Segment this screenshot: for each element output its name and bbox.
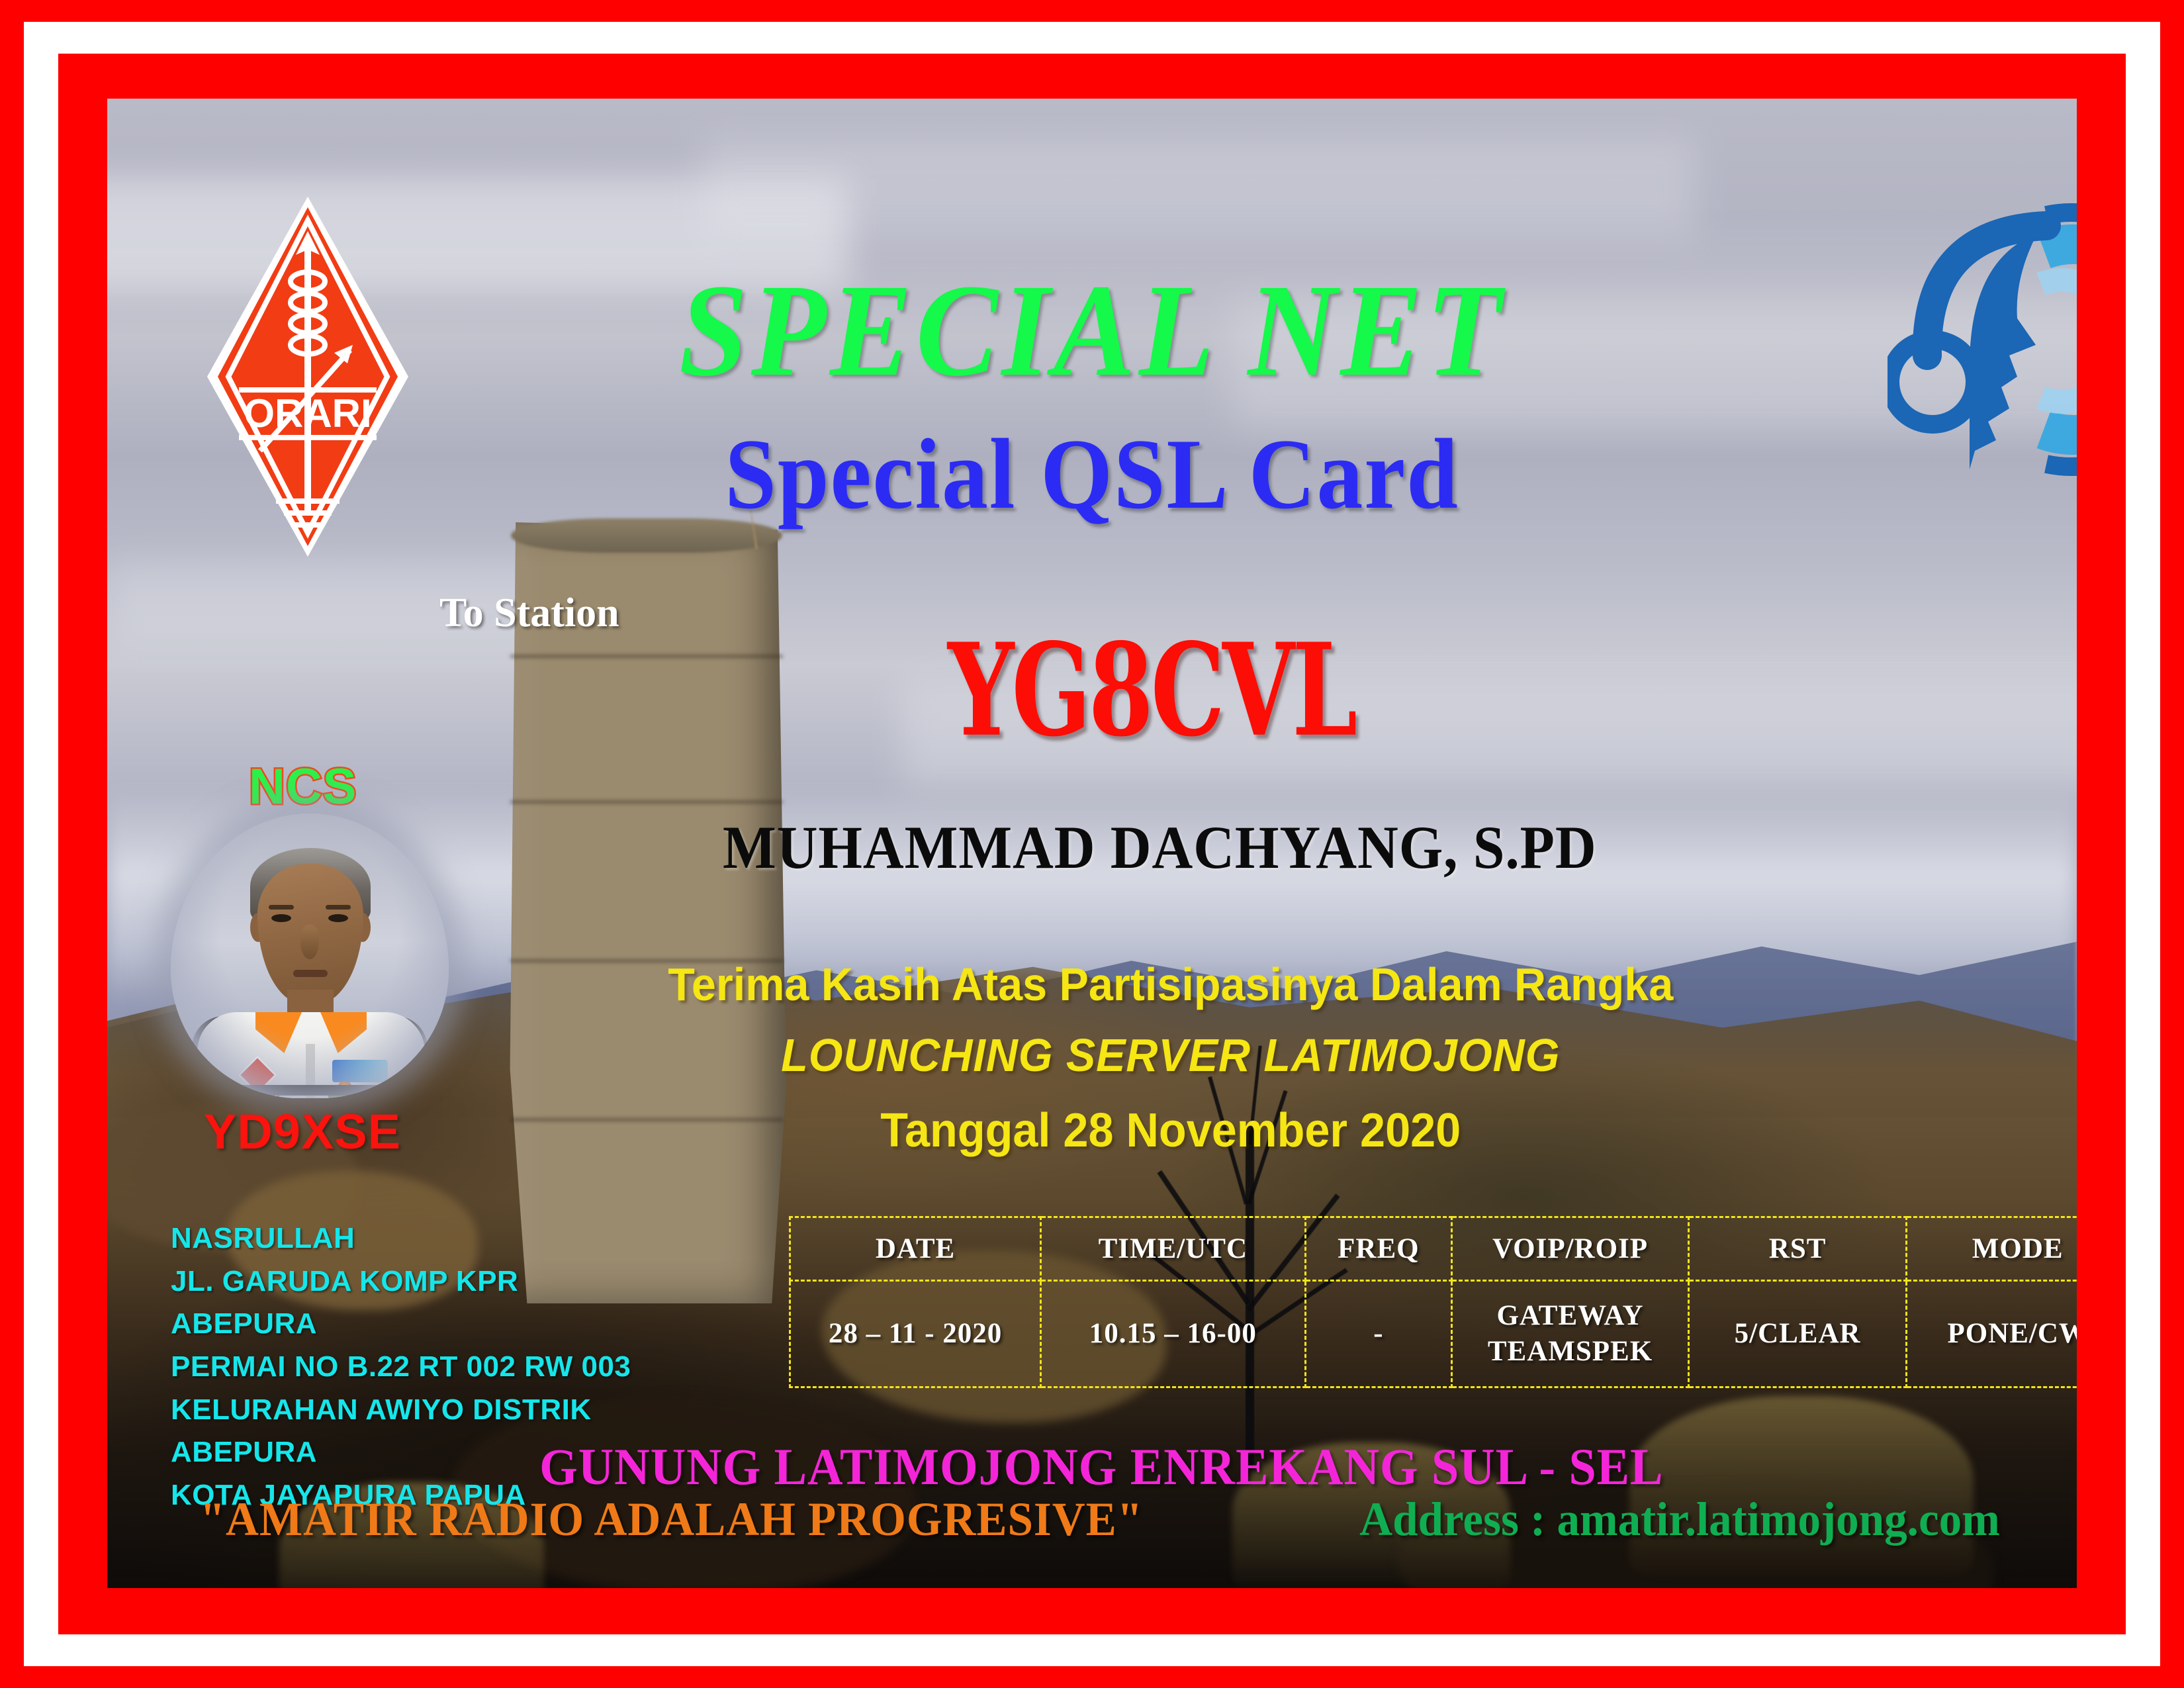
- page-subtitle: Special QSL Card: [186, 416, 1998, 532]
- stone-cairn-monument: [504, 522, 789, 1303]
- card-photo-area: ORARI: [107, 99, 2077, 1588]
- table-header-row: DATE TIME/UTC FREQ VOIP/ROIP RST MODE: [790, 1217, 2077, 1281]
- address-line: ABEPURA: [171, 1303, 631, 1346]
- ncs-callsign: YD9XSE: [204, 1103, 401, 1160]
- operator-name: MUHAMMAD DACHYANG, S.PD: [176, 812, 2008, 882]
- column-header-mode: MODE: [1907, 1217, 2077, 1281]
- column-header-time: TIME/UTC: [1041, 1217, 1305, 1281]
- cairn-stonework: [504, 522, 789, 1303]
- avatar-vignette: [171, 814, 449, 1098]
- cell-mode: PONE/CW: [1907, 1281, 2077, 1387]
- address-line: PERMAI NO B.22 RT 002 RW 003: [171, 1346, 631, 1389]
- address-line: JL. GARUDA KOMP KPR: [171, 1260, 631, 1303]
- station-callsign: YG8CVL: [948, 615, 1355, 765]
- column-header-freq: FREQ: [1305, 1217, 1452, 1281]
- motto-text: "AMATIR RADIO ADALAH PROGRESIVE": [200, 1492, 1143, 1547]
- cell-date: 28 – 11 - 2020: [790, 1281, 1041, 1387]
- ncs-operator-avatar: YD9XSE: [171, 814, 449, 1098]
- qso-details-table: DATE TIME/UTC FREQ VOIP/ROIP RST MODE 28…: [789, 1216, 2077, 1388]
- cell-rst: 5/CLEAR: [1688, 1281, 1907, 1387]
- table-row: 28 – 11 - 2020 10.15 – 16-00 - GATEWAY T…: [790, 1281, 2077, 1387]
- location-text: GUNUNG LATIMOJONG ENREKANG SUL - SEL: [156, 1437, 2027, 1497]
- frame-inner-red-band: ORARI: [58, 54, 2126, 1634]
- address-line: NASRULLAH: [171, 1217, 631, 1260]
- column-header-rst: RST: [1688, 1217, 1907, 1281]
- cell-time: 10.15 – 16-00: [1041, 1281, 1305, 1387]
- column-header-voip: VOIP/ROIP: [1452, 1217, 1689, 1281]
- event-date: Tanggal 28 November 2020: [156, 1103, 2027, 1158]
- qsl-card-frame: ORARI: [0, 0, 2184, 1688]
- cairn-seam: [510, 800, 784, 804]
- to-station-label: To Station: [439, 590, 619, 637]
- page-title: SPECIAL NET: [176, 255, 2008, 406]
- frame-white-gap: ORARI: [24, 22, 2160, 1666]
- address-line: KELURAHAN AWIYO DISTRIK: [171, 1389, 631, 1432]
- web-address-text: Address : amatir.latimojong.com: [1359, 1492, 2000, 1547]
- cloud-band: [703, 138, 1696, 238]
- ncs-role-label: NCS: [249, 758, 357, 816]
- cairn-seam: [510, 655, 784, 658]
- cell-freq: -: [1305, 1281, 1452, 1387]
- cell-voip: GATEWAY TEAMSPEK: [1452, 1281, 1689, 1387]
- column-header-date: DATE: [790, 1217, 1041, 1281]
